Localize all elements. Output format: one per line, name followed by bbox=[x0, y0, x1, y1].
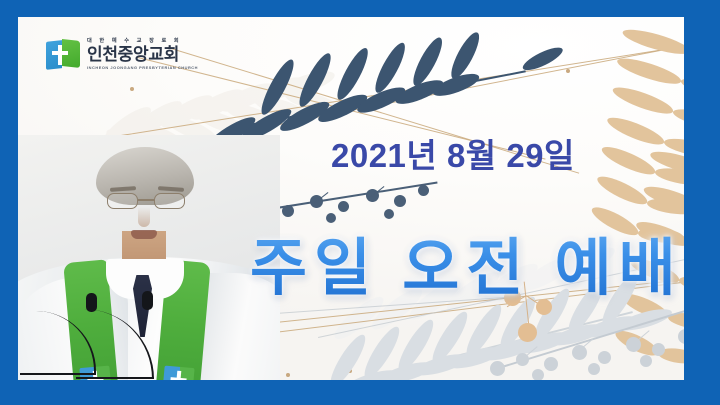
banner-card: 대 한 예 수 교 장 로 회 인천중앙교회 INCHEON JOONGANG … bbox=[18, 17, 684, 380]
service-title: 주일 오전 예배 bbox=[250, 217, 683, 307]
service-title-wrap: 주일 오전 예배 주일 오전 예배 bbox=[18, 17, 684, 380]
banner-stage: 대 한 예 수 교 장 로 회 인천중앙교회 INCHEON JOONGANG … bbox=[0, 0, 720, 405]
